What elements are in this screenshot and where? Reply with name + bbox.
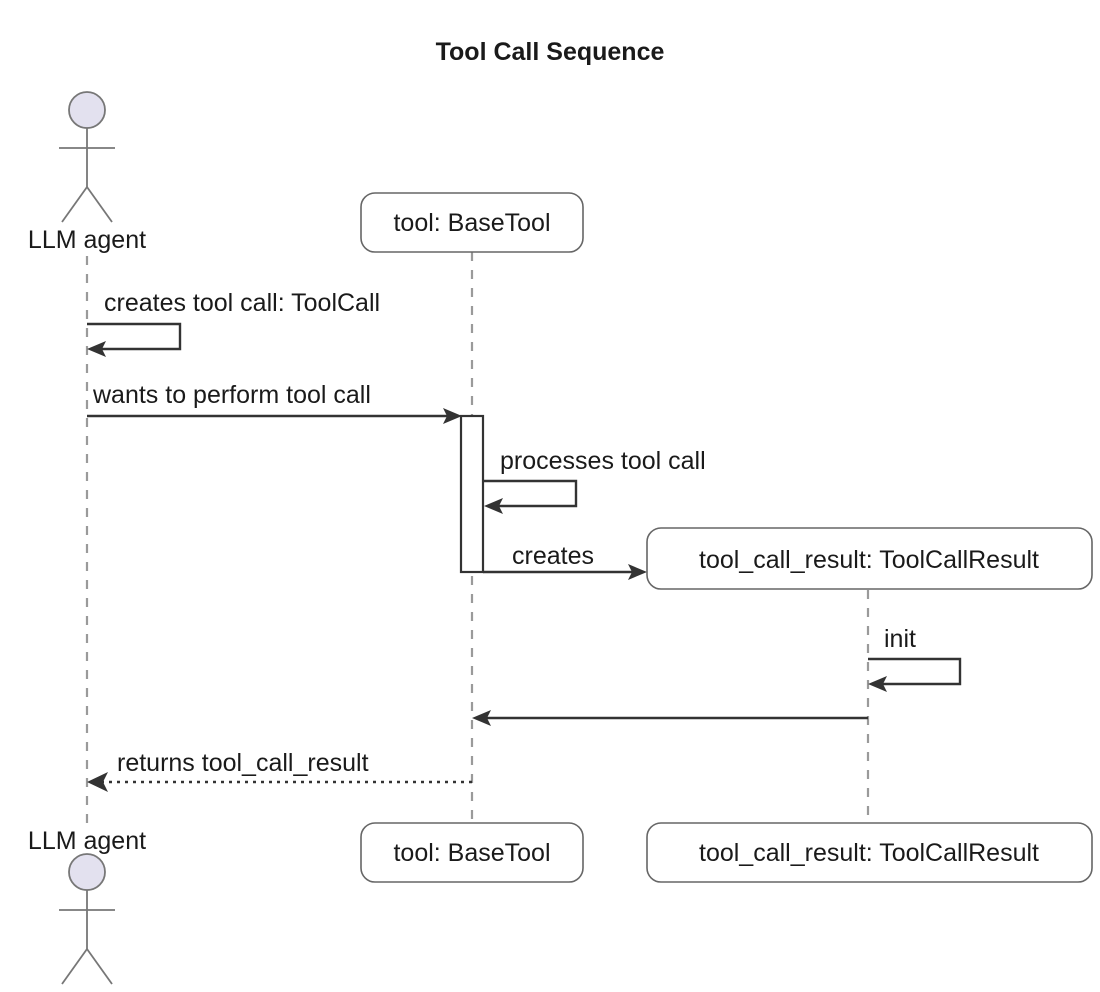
actor-label-bottom: LLM agent	[28, 827, 146, 855]
actor-head-icon	[69, 92, 105, 128]
message-label-creates: creates	[512, 542, 594, 570]
message-label-processes-tool-call: processes tool call	[500, 447, 706, 475]
message-creates-tool-call[interactable]: creates tool call: ToolCall	[87, 289, 380, 357]
actor-leg-right-icon	[87, 187, 112, 222]
participant-tool-top[interactable]: tool: BaseTool	[361, 193, 583, 252]
participant-label-tool-call-result-top: tool_call_result: ToolCallResult	[699, 546, 1039, 574]
participant-tool-call-result-bottom[interactable]: tool_call_result: ToolCallResult	[647, 823, 1092, 882]
sequence-diagram-canvas: Tool Call Sequence LLM agent tool: BaseT…	[0, 0, 1100, 992]
sequence-diagram-svg: Tool Call Sequence LLM agent tool: BaseT…	[0, 0, 1100, 992]
message-creates[interactable]: creates	[483, 542, 647, 580]
participant-tool-call-result-top[interactable]: tool_call_result: ToolCallResult	[647, 528, 1092, 589]
message-label-creates-tool-call: creates tool call: ToolCall	[104, 289, 380, 317]
arrowhead-returns-tool-call-result	[87, 772, 108, 792]
actor-leg-left-icon-bottom	[62, 949, 87, 984]
actor-label-top: LLM agent	[28, 226, 146, 254]
actor-llm-agent-top[interactable]: LLM agent	[28, 92, 146, 254]
actor-leg-right-icon-bottom	[87, 949, 112, 984]
message-label-init: init	[884, 625, 916, 653]
message-wants-to-perform[interactable]: wants to perform tool call	[87, 381, 462, 424]
participant-tool-bottom[interactable]: tool: BaseTool	[361, 823, 583, 882]
message-label-wants-to-perform: wants to perform tool call	[92, 381, 371, 409]
page-title: Tool Call Sequence	[436, 38, 665, 66]
participant-label-tool-bottom: tool: BaseTool	[393, 839, 550, 867]
message-label-returns-tool-call-result: returns tool_call_result	[117, 749, 369, 777]
participant-label-tool-top: tool: BaseTool	[393, 209, 550, 237]
actor-leg-left-icon	[62, 187, 87, 222]
actor-llm-agent-bottom[interactable]: LLM agent	[28, 827, 146, 984]
message-returns-tool-call-result[interactable]: returns tool_call_result	[87, 749, 472, 792]
activation-bar-tool	[461, 416, 483, 572]
message-init[interactable]: init	[868, 625, 960, 692]
participant-label-tool-call-result-bottom: tool_call_result: ToolCallResult	[699, 839, 1039, 867]
actor-head-icon-bottom	[69, 854, 105, 890]
message-result-to-tool[interactable]	[472, 710, 868, 726]
message-processes-tool-call[interactable]: processes tool call	[483, 447, 706, 514]
